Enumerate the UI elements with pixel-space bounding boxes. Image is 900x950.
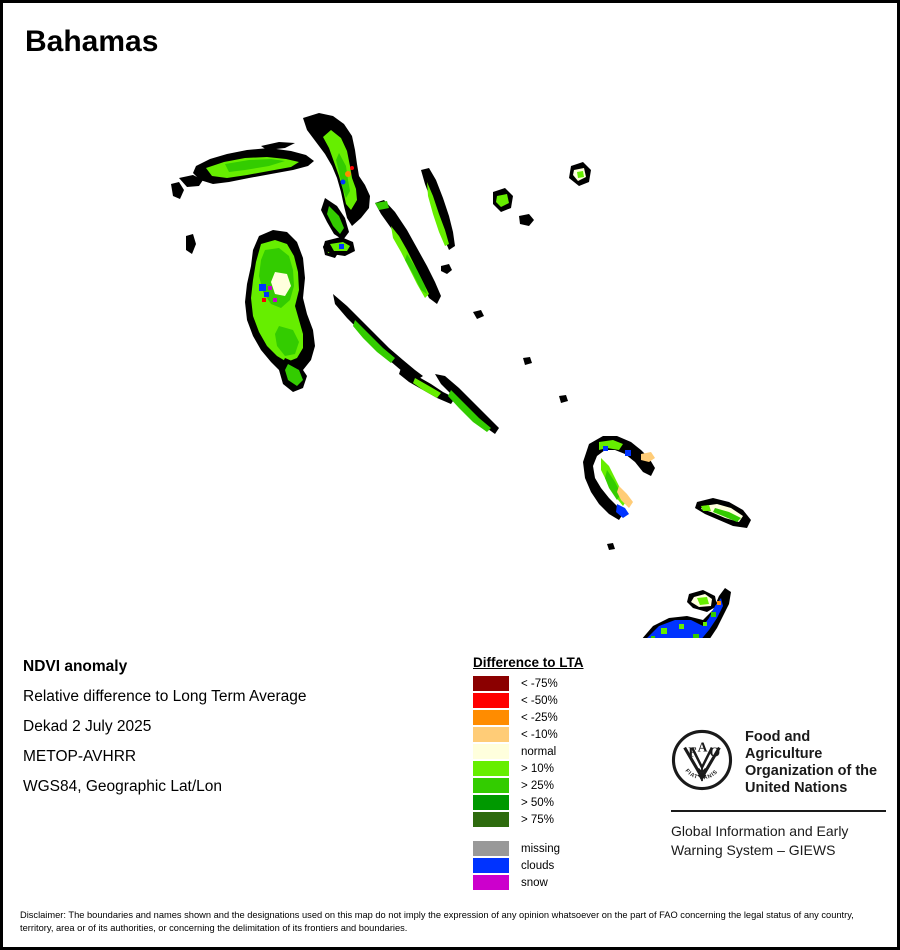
fao-name-line-3: United Nations [745,780,886,797]
legend: Difference to LTA < -75% < -50% < -25% <… [473,655,653,891]
metadata-line-sensor: METOP-AVHRR [23,748,443,766]
legend-swatch [473,693,509,708]
legend-label: > 50% [521,797,554,809]
svg-text:F: F [688,744,696,759]
giews-line-1: Global Information and Early [671,822,886,841]
map-metadata: NDVI anomaly Relative difference to Long… [23,658,443,808]
metadata-line-measure: Relative difference to Long Term Average [23,688,443,706]
legend-swatch [473,875,509,890]
legend-swatch [473,727,509,742]
fao-block: F A O FIAT PANIS Food and Agriculture Or… [671,729,886,860]
legend-swatch [473,841,509,856]
legend-swatch [473,778,509,793]
metadata-line-projection: WGS84, Geographic Lat/Lon [23,778,443,796]
giews-label: Global Information and Early Warning Sys… [671,822,886,860]
legend-item-clouds: clouds [473,857,653,874]
map-background [3,58,897,638]
metadata-line-period: Dekad 2 July 2025 [23,718,443,736]
legend-spacer [473,828,653,840]
legend-item: normal [473,743,653,760]
legend-swatch [473,744,509,759]
legend-swatch [473,795,509,810]
legend-item: > 10% [473,760,653,777]
metadata-line-variable: NDVI anomaly [23,658,443,676]
legend-label: > 10% [521,763,554,775]
legend-label: missing [521,843,560,855]
legend-item-snow: snow [473,874,653,891]
fao-header: F A O FIAT PANIS Food and Agriculture Or… [671,729,886,797]
legend-swatch [473,710,509,725]
disclaimer-text: Disclaimer: The boundaries and names sho… [20,909,882,935]
legend-label: clouds [521,860,554,872]
legend-item: < -50% [473,692,653,709]
legend-item: < -10% [473,726,653,743]
legend-label: < -25% [521,712,558,724]
legend-item: > 50% [473,794,653,811]
giews-line-2: Warning System – GIEWS [671,841,886,860]
svg-text:O: O [709,744,720,759]
legend-label: < -50% [521,695,558,707]
legend-item: < -75% [473,675,653,692]
fao-logo-icon: F A O FIAT PANIS [671,729,733,791]
page-title: Bahamas [25,25,158,59]
legend-label: > 75% [521,814,554,826]
legend-swatch [473,812,509,827]
map-graphic [3,58,897,638]
legend-item: > 25% [473,777,653,794]
legend-swatch [473,676,509,691]
legend-title: Difference to LTA [473,655,653,670]
legend-label: snow [521,877,548,889]
legend-label: > 25% [521,780,554,792]
map-canvas[interactable] [3,58,897,638]
legend-label: normal [521,746,556,758]
legend-swatch [473,858,509,873]
fao-name-line-2: Organization of the [745,763,886,780]
svg-text:A: A [698,739,708,754]
map-page: Bahamas [0,0,900,950]
legend-label: < -75% [521,678,558,690]
legend-label: < -10% [521,729,558,741]
fao-name-line-1: Food and Agriculture [745,729,886,763]
legend-item-missing: missing [473,840,653,857]
fao-organization-name: Food and Agriculture Organization of the… [745,729,886,797]
legend-item: < -25% [473,709,653,726]
legend-item: > 75% [473,811,653,828]
fao-divider [671,810,886,812]
legend-swatch [473,761,509,776]
